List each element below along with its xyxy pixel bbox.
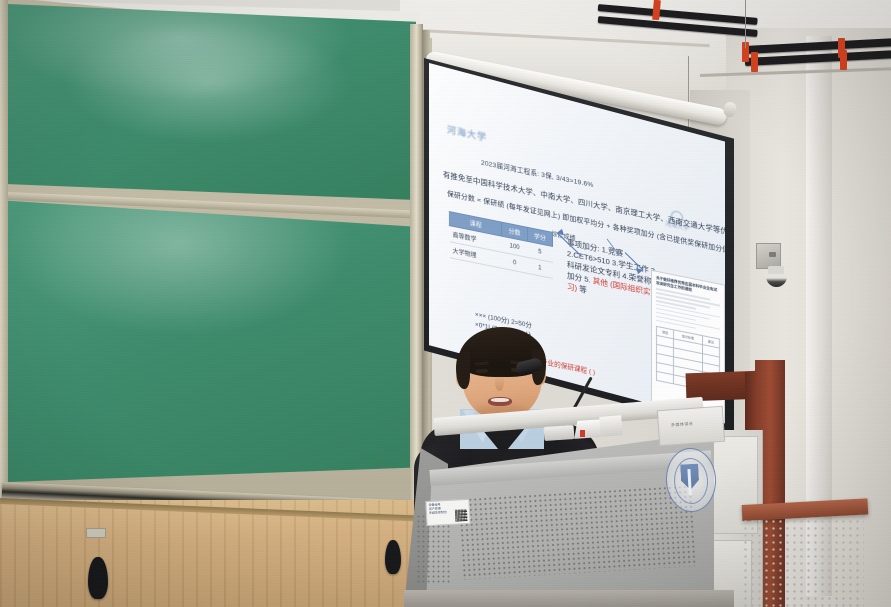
chalkboard-left-edge — [0, 0, 8, 524]
chalkboard-panel-upper — [8, 2, 416, 200]
wall-hook — [385, 540, 401, 574]
lectern-plaque: 多媒体讲台 — [657, 406, 725, 447]
chalkboard-panel-lower — [8, 192, 416, 482]
lectern-asset-label: 设备编号 资产管理 多媒体控制台 — [425, 499, 470, 526]
chalkboard — [0, 0, 437, 536]
qr-code-icon — [455, 509, 468, 522]
radiator-cover — [742, 518, 864, 607]
floor — [404, 590, 734, 607]
lectern: 设备编号 资产管理 多媒体控制台 多媒体讲台 — [404, 396, 724, 607]
lectern-plaque-text: 多媒体讲台 — [671, 421, 694, 429]
conduit-clamp — [840, 50, 847, 70]
lectern-device-b[interactable] — [599, 415, 623, 437]
presenter-eye-left — [476, 369, 488, 374]
chalkboard-glare — [68, 22, 348, 142]
slide-logo-text: 河海大学 — [447, 123, 487, 144]
lectern-speaker-grille — [458, 484, 696, 580]
wall-plate — [86, 528, 106, 538]
callout-tail: 等 — [579, 284, 587, 295]
microphone-base — [544, 425, 575, 441]
presenter-hair-side-left — [456, 351, 470, 389]
slide-score-table: 课程 分数 学分 高等数学 100 5 — [449, 211, 553, 279]
slide-callout: 事项加分: 1.竞赛 2.CET6>510 3.学生工作 3.科研发论文专利 4… — [567, 237, 659, 311]
lectern-device-indicator — [580, 430, 585, 437]
wall-hook — [88, 557, 108, 599]
lecture-hall-photo: 河海大学 河海大学 2023届河海工程系: 3保, 3/43=19.6% 有推免… — [0, 0, 891, 607]
screen-roller-endcap — [723, 101, 738, 118]
presenter-nose — [495, 375, 504, 391]
